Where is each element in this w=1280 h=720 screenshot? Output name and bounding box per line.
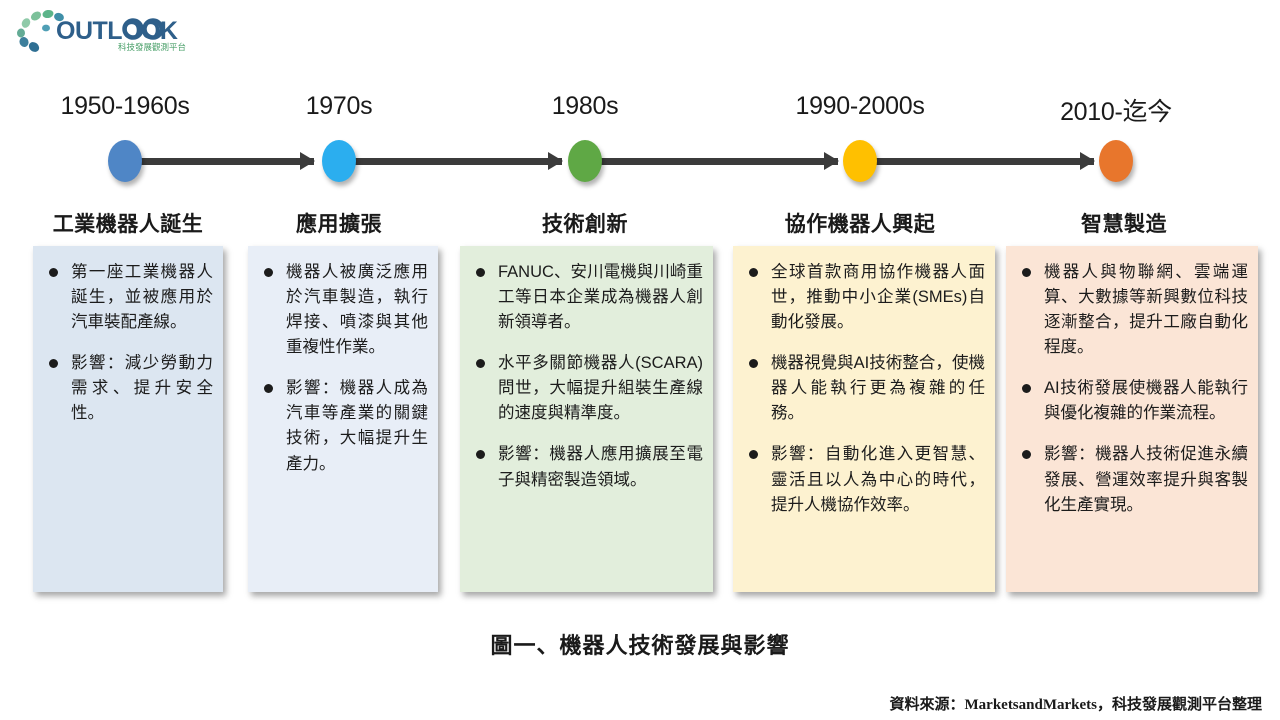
list-item: AI技術發展使機器人能執行與優化複雜的作業流程。 <box>1012 376 1248 426</box>
timeline-segment-2 <box>352 158 562 165</box>
timeline-segment-4 <box>874 158 1094 165</box>
timeline-arrow-3 <box>824 152 839 170</box>
list-item: 影響：自動化進入更智慧、靈活且以人為中心的時代，提升人機協作效率。 <box>739 442 985 517</box>
timeline-arrow-1 <box>300 152 315 170</box>
timeline-arrow-2 <box>548 152 563 170</box>
bullet-list: 機器人被廣泛應用於汽車製造，執行焊接、噴漆與其他重複性作業。 影響：機器人成為汽… <box>254 260 428 477</box>
logo-tagline: 科技發展觀測平台 <box>118 42 186 52</box>
stage-title-2010-now: 智慧製造 <box>1081 208 1167 238</box>
list-item-text: AI技術發展使機器人能執行與優化複雜的作業流程。 <box>1044 379 1248 422</box>
outlook-logo-graphic: OUTLOOK 科技發展觀測平台 <box>10 8 220 54</box>
stage-title-1970s: 應用擴張 <box>296 208 382 238</box>
list-item-text: 第一座工業機器人誕生，並被應用於汽車裝配產線。 <box>71 263 213 331</box>
detail-card-2010-now: 機器人與物聯網、雲端運算、大數據等新興數位科技逐漸整合，提升工廠自動化程度。 A… <box>1006 246 1258 592</box>
list-item: 機器視覺與AI技術整合，使機器人能執行更為複雜的任務。 <box>739 351 985 426</box>
timeline-node-1990-2000s <box>843 140 877 182</box>
outlook-logo: OUTLOOK 科技發展觀測平台 <box>10 8 220 54</box>
bullet-icon <box>476 450 485 459</box>
source-note: 資料來源：MarketsandMarkets，科技發展觀測平台整理 <box>889 693 1262 714</box>
stage-title-1990-2000s: 協作機器人興起 <box>785 208 936 238</box>
bullet-icon <box>264 384 273 393</box>
bullet-icon <box>749 268 758 277</box>
list-item: 機器人被廣泛應用於汽車製造，執行焊接、噴漆與其他重複性作業。 <box>254 260 428 360</box>
stage-title-1950-1960s: 工業機器人誕生 <box>53 208 204 238</box>
bullet-icon <box>476 359 485 368</box>
list-item: 影響：機器人成為汽車等產業的關鍵技術，大幅提升生產力。 <box>254 376 428 476</box>
list-item: 影響：機器人技術促進永續發展、營運效率提升與客製化生產實現。 <box>1012 442 1248 517</box>
bullet-list: 機器人與物聯網、雲端運算、大數據等新興數位科技逐漸整合，提升工廠自動化程度。 A… <box>1012 260 1248 518</box>
bullet-icon <box>1022 268 1031 277</box>
era-label-1990-2000s: 1990-2000s <box>795 92 924 121</box>
bullet-icon <box>1022 450 1031 459</box>
list-item-text: 影響：機器人成為汽車等產業的關鍵技術，大幅提升生產力。 <box>286 379 428 472</box>
detail-card-1950-1960s: 第一座工業機器人誕生，並被應用於汽車裝配產線。 影響：減少勞動力需求、提升安全性… <box>33 246 223 592</box>
source-label: 資料來源： <box>889 696 964 713</box>
timeline-segment-1 <box>136 158 314 165</box>
detail-card-1980s: FANUC、安川電機與川崎重工等日本企業成為機器人創新領導者。 水平多關節機器人… <box>460 246 713 592</box>
list-item: 水平多關節機器人(SCARA)問世，大幅提升組裝生產線的速度與精準度。 <box>466 351 703 426</box>
bullet-list: 全球首款商用協作機器人面世，推動中小企業(SMEs)自動化發展。 機器視覺與AI… <box>739 260 985 518</box>
timeline-node-1970s <box>322 140 356 182</box>
bullet-icon <box>749 359 758 368</box>
list-item-text: FANUC、安川電機與川崎重工等日本企業成為機器人創新領導者。 <box>498 263 703 331</box>
timeline: 1950-1960s 1970s 1980s 1990-2000s 2010-迄… <box>0 92 1280 212</box>
era-label-2010-now: 2010-迄今 <box>1060 92 1172 128</box>
list-item-text: 影響：機器人技術促進永續發展、營運效率提升與客製化生產實現。 <box>1044 445 1248 513</box>
list-item-text: 水平多關節機器人(SCARA)問世，大幅提升組裝生產線的速度與精準度。 <box>498 354 703 422</box>
list-item-text: 影響：減少勞動力需求、提升安全性。 <box>71 354 213 422</box>
list-item-text: 影響：自動化進入更智慧、靈活且以人為中心的時代，提升人機協作效率。 <box>771 445 985 513</box>
timeline-segment-3 <box>598 158 838 165</box>
detail-card-1990-2000s: 全球首款商用協作機器人面世，推動中小企業(SMEs)自動化發展。 機器視覺與AI… <box>733 246 995 592</box>
era-label-1970s: 1970s <box>306 92 373 121</box>
list-item-text: 機器視覺與AI技術整合，使機器人能執行更為複雜的任務。 <box>771 354 985 422</box>
bullet-icon <box>49 359 58 368</box>
timeline-node-1980s <box>568 140 602 182</box>
stage-title-1980s: 技術創新 <box>542 208 628 238</box>
bullet-list: 第一座工業機器人誕生，並被應用於汽車裝配產線。 影響：減少勞動力需求、提升安全性… <box>39 260 213 426</box>
list-item-text: 影響：機器人應用擴展至電子與精密製造領域。 <box>498 445 703 488</box>
figure-caption: 圖一、機器人技術發展與影響 <box>0 628 1280 660</box>
era-label-1950-1960s: 1950-1960s <box>60 92 189 121</box>
list-item: FANUC、安川電機與川崎重工等日本企業成為機器人創新領導者。 <box>466 260 703 335</box>
list-item-text: 全球首款商用協作機器人面世，推動中小企業(SMEs)自動化發展。 <box>771 263 985 331</box>
list-item: 全球首款商用協作機器人面世，推動中小企業(SMEs)自動化發展。 <box>739 260 985 335</box>
list-item: 第一座工業機器人誕生，並被應用於汽車裝配產線。 <box>39 260 213 335</box>
list-item-text: 機器人被廣泛應用於汽車製造，執行焊接、噴漆與其他重複性作業。 <box>286 263 428 356</box>
timeline-node-2010-now <box>1099 140 1133 182</box>
list-item: 機器人與物聯網、雲端運算、大數據等新興數位科技逐漸整合，提升工廠自動化程度。 <box>1012 260 1248 360</box>
bullet-icon <box>749 450 758 459</box>
timeline-arrow-4 <box>1080 152 1095 170</box>
bullet-icon <box>476 268 485 277</box>
bullet-icon <box>49 268 58 277</box>
era-label-1980s: 1980s <box>552 92 619 121</box>
list-item: 影響：機器人應用擴展至電子與精密製造領域。 <box>466 442 703 492</box>
bullet-icon <box>1022 384 1031 393</box>
source-suffix: ，科技發展觀測平台整理 <box>1097 696 1262 713</box>
list-item-text: 機器人與物聯網、雲端運算、大數據等新興數位科技逐漸整合，提升工廠自動化程度。 <box>1044 263 1248 356</box>
timeline-node-1950-1960s <box>108 140 142 182</box>
bullet-icon <box>264 268 273 277</box>
list-item: 影響：減少勞動力需求、提升安全性。 <box>39 351 213 426</box>
detail-card-1970s: 機器人被廣泛應用於汽車製造，執行焊接、噴漆與其他重複性作業。 影響：機器人成為汽… <box>248 246 438 592</box>
source-provider: MarketsandMarkets <box>965 697 1097 713</box>
bullet-list: FANUC、安川電機與川崎重工等日本企業成為機器人創新領導者。 水平多關節機器人… <box>466 260 703 493</box>
